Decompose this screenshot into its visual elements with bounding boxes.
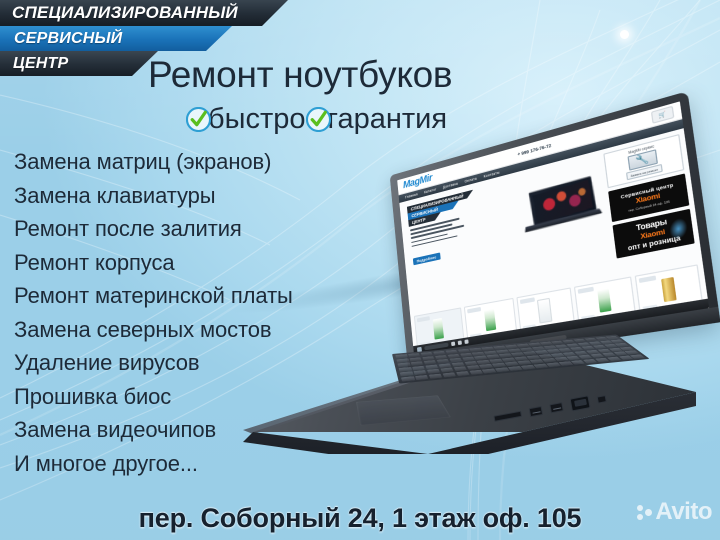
lock-slot-icon: [597, 395, 607, 404]
site-hero-button[interactable]: Подробнее: [413, 253, 441, 266]
ribbon-center-label: ЦЕНТР: [13, 55, 68, 73]
usb-port-icon: [529, 405, 543, 416]
benefit-label-warranty: гарантия: [328, 103, 448, 136]
glow-dot-icon: [620, 30, 629, 39]
list-item: Ремонт корпуса: [14, 246, 354, 280]
ribbon-specialized: СПЕЦИАЛИЗИРОВАННЫЙ: [0, 0, 300, 26]
taskbar-app-icon[interactable]: [464, 339, 468, 344]
check-circle-icon: [186, 107, 211, 132]
list-item: Удаление вирусов: [14, 346, 354, 380]
list-item: Замена матриц (экранов): [14, 145, 354, 179]
benefits-row: быстро гарантия: [186, 103, 447, 136]
list-item: Ремонт после залития: [14, 212, 354, 246]
list-item: Ремонт материнской платы: [14, 279, 354, 313]
usb-port-icon: [549, 402, 563, 413]
list-item: И многое другое...: [14, 447, 354, 481]
card-reader-port-icon: [493, 411, 522, 422]
poster-canvas: СПЕЦИАЛИЗИРОВАННЫЙ СЕРВИСНЫЙ ЦЕНТР Ремон…: [0, 0, 720, 540]
list-item: Замена клавиатуры: [14, 179, 354, 213]
ribbon-specialized-label: СПЕЦИАЛИЗИРОВАННЫЙ: [12, 3, 238, 23]
ribbon-center: ЦЕНТР: [0, 51, 171, 76]
page-title: Ремонт ноутбуков: [148, 54, 452, 96]
services-list: Замена матриц (экранов) Замена клавиатур…: [14, 145, 354, 480]
list-item: Прошивка биос: [14, 380, 354, 414]
address-text: пер. Соборный 24, 1 этаж оф. 105: [0, 503, 720, 534]
spark-glow-icon: [668, 218, 690, 241]
ribbon-service: СЕРВИСНЫЙ: [0, 26, 246, 51]
benefit-label-fast: быстро: [208, 103, 306, 136]
vga-port-icon: [570, 395, 591, 411]
check-circle-icon: [306, 107, 331, 132]
list-item: Замена видеочипов: [14, 413, 354, 447]
list-item: Замена северных мостов: [14, 313, 354, 347]
ribbon-service-label: СЕРВИСНЫЙ: [14, 30, 122, 48]
taskbar-app-icon[interactable]: [458, 340, 462, 345]
site-hero-laptop-image: [519, 175, 605, 240]
